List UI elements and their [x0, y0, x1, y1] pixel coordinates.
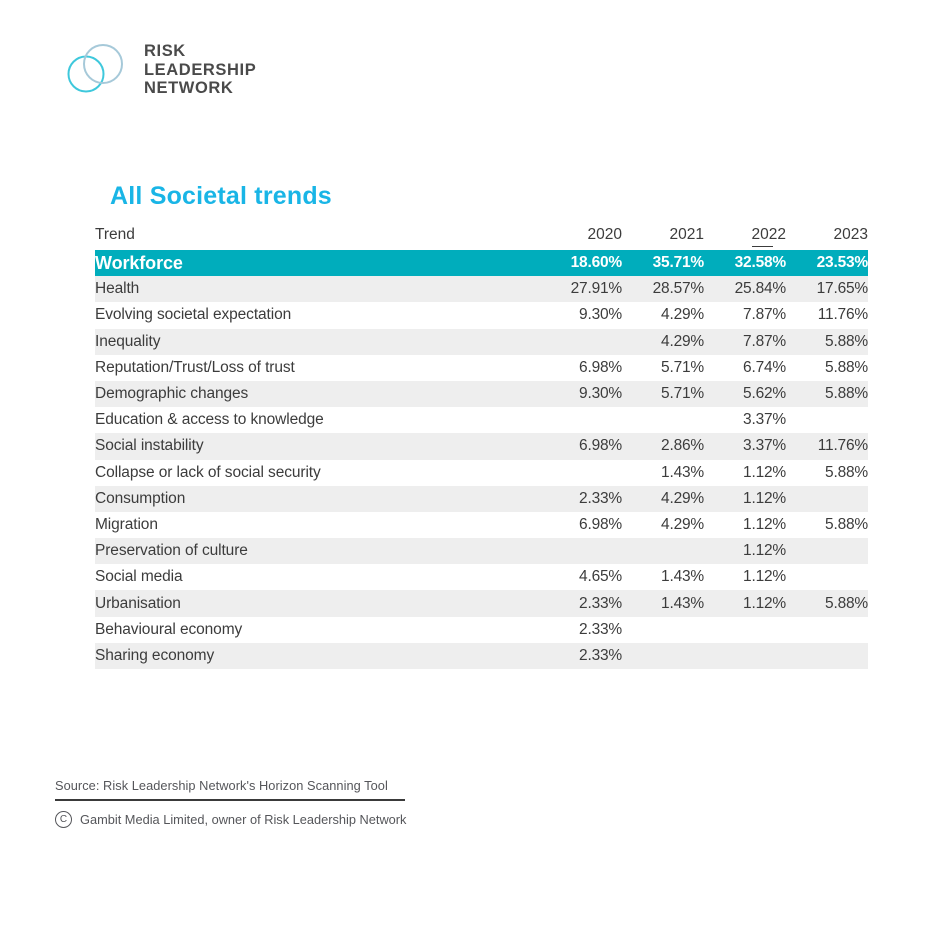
value-cell-2022: 25.84%: [704, 276, 786, 302]
value-cell-2020: 6.98%: [540, 512, 622, 538]
value-cell-2022: 1.12%: [704, 590, 786, 616]
value-cell-2023: [786, 538, 868, 564]
value-cell-2023: 11.76%: [786, 302, 868, 328]
table-row[interactable]: Social instability6.98%2.86%3.37%11.76%: [95, 433, 868, 459]
trend-name-cell: Health: [95, 276, 540, 302]
trend-name-cell: Migration: [95, 512, 540, 538]
value-cell-2023: [786, 407, 868, 433]
value-cell-2020: [540, 329, 622, 355]
value-cell-2021: 1.43%: [622, 460, 704, 486]
value-cell-2020: [540, 407, 622, 433]
value-cell-2023: 17.65%: [786, 276, 868, 302]
column-header-2021-label: 2021: [670, 226, 704, 244]
trend-name-cell: Inequality: [95, 329, 540, 355]
trend-name-cell: Evolving societal expectation: [95, 302, 540, 328]
value-cell-2020: 9.30%: [540, 302, 622, 328]
value-cell-2023: 11.76%: [786, 433, 868, 459]
value-cell-2021: [622, 643, 704, 669]
value-cell-2021: 35.71%: [622, 250, 704, 276]
value-cell-2023: 5.88%: [786, 381, 868, 407]
table-row[interactable]: Migration6.98%4.29%1.12%5.88%: [95, 512, 868, 538]
value-cell-2020: 27.91%: [540, 276, 622, 302]
column-header-2023-label: 2023: [834, 226, 868, 244]
table-row[interactable]: Preservation of culture1.12%: [95, 538, 868, 564]
trends-table-container: Trend 2020 2021 2022 2023 Workforce18.60…: [95, 220, 868, 669]
brand-line-1: RISK: [144, 42, 256, 60]
trend-name-cell: Consumption: [95, 486, 540, 512]
table-row[interactable]: Reputation/Trust/Loss of trust6.98%5.71%…: [95, 355, 868, 381]
value-cell-2021: 4.29%: [622, 512, 704, 538]
trend-name-cell: Social media: [95, 564, 540, 590]
value-cell-2021: 4.29%: [622, 329, 704, 355]
value-cell-2020: 2.33%: [540, 643, 622, 669]
value-cell-2023: [786, 617, 868, 643]
footer-divider: [55, 799, 405, 801]
trend-name-cell: Behavioural economy: [95, 617, 540, 643]
table-row[interactable]: Urbanisation2.33%1.43%1.12%5.88%: [95, 590, 868, 616]
value-cell-2022: 7.87%: [704, 302, 786, 328]
value-cell-2022: 3.37%: [704, 407, 786, 433]
copyright-text: Gambit Media Limited, owner of Risk Lead…: [80, 812, 406, 827]
value-cell-2020: [540, 460, 622, 486]
column-header-2020-label: 2020: [588, 226, 622, 244]
trend-name-cell: Sharing economy: [95, 643, 540, 669]
value-cell-2023: 23.53%: [786, 250, 868, 276]
value-cell-2022: 1.12%: [704, 486, 786, 512]
value-cell-2021: 4.29%: [622, 486, 704, 512]
value-cell-2023: 5.88%: [786, 512, 868, 538]
value-cell-2023: 5.88%: [786, 590, 868, 616]
value-cell-2021: [622, 617, 704, 643]
page-title: All Societal trends: [110, 182, 332, 211]
value-cell-2020: 2.33%: [540, 590, 622, 616]
value-cell-2023: [786, 486, 868, 512]
value-cell-2022: [704, 643, 786, 669]
table-row[interactable]: Inequality4.29%7.87%5.88%: [95, 329, 868, 355]
value-cell-2021: 2.86%: [622, 433, 704, 459]
trend-name-cell: Social instability: [95, 433, 540, 459]
trend-name-cell: Collapse or lack of social security: [95, 460, 540, 486]
table-row[interactable]: Workforce18.60%35.71%32.58%23.53%: [95, 250, 868, 276]
column-header-2020[interactable]: 2020: [540, 220, 622, 250]
value-cell-2020: 2.33%: [540, 486, 622, 512]
trend-name-cell: Demographic changes: [95, 381, 540, 407]
value-cell-2022: 1.12%: [704, 538, 786, 564]
value-cell-2021: 5.71%: [622, 381, 704, 407]
value-cell-2020: [540, 538, 622, 564]
value-cell-2022: 7.87%: [704, 329, 786, 355]
value-cell-2022: 6.74%: [704, 355, 786, 381]
column-header-2021[interactable]: 2021: [622, 220, 704, 250]
column-header-trend[interactable]: Trend: [95, 220, 540, 250]
value-cell-2020: 9.30%: [540, 381, 622, 407]
value-cell-2020: 6.98%: [540, 433, 622, 459]
value-cell-2020: 2.33%: [540, 617, 622, 643]
overlapping-circles-logo-icon: [62, 42, 130, 98]
table-row[interactable]: Demographic changes9.30%5.71%5.62%5.88%: [95, 381, 868, 407]
value-cell-2020: 6.98%: [540, 355, 622, 381]
table-row[interactable]: Social media4.65%1.43%1.12%: [95, 564, 868, 590]
table-row[interactable]: Behavioural economy2.33%: [95, 617, 868, 643]
copyright-row: C Gambit Media Limited, owner of Risk Le…: [55, 811, 875, 828]
value-cell-2021: 5.71%: [622, 355, 704, 381]
column-header-2022-label: 2022: [752, 226, 786, 244]
trend-name-cell: Urbanisation: [95, 590, 540, 616]
table-header: Trend 2020 2021 2022 2023: [95, 220, 868, 250]
table-row[interactable]: Health27.91%28.57%25.84%17.65%: [95, 276, 868, 302]
value-cell-2022: 3.37%: [704, 433, 786, 459]
brand-wordmark: RISK LEADERSHIP NETWORK: [144, 42, 256, 97]
value-cell-2023: 5.88%: [786, 329, 868, 355]
value-cell-2022: 5.62%: [704, 381, 786, 407]
value-cell-2022: 1.12%: [704, 512, 786, 538]
value-cell-2023: [786, 564, 868, 590]
table-row[interactable]: Education & access to knowledge3.37%: [95, 407, 868, 433]
trend-name-cell: Workforce: [95, 250, 540, 276]
trend-name-cell: Reputation/Trust/Loss of trust: [95, 355, 540, 381]
copyright-icon: C: [55, 811, 72, 828]
value-cell-2023: 5.88%: [786, 355, 868, 381]
value-cell-2021: [622, 538, 704, 564]
brand-line-2: LEADERSHIP: [144, 61, 256, 79]
table-header-row: Trend 2020 2021 2022 2023: [95, 220, 868, 250]
value-cell-2022: 32.58%: [704, 250, 786, 276]
value-cell-2023: 5.88%: [786, 460, 868, 486]
source-note: Source: Risk Leadership Network's Horizo…: [55, 778, 875, 793]
table-row[interactable]: Sharing economy2.33%: [95, 643, 868, 669]
value-cell-2021: 4.29%: [622, 302, 704, 328]
trend-name-cell: Education & access to knowledge: [95, 407, 540, 433]
societal-trends-table: Trend 2020 2021 2022 2023 Workforce18.60…: [95, 220, 868, 669]
column-header-2022[interactable]: 2022: [704, 220, 786, 250]
value-cell-2021: 1.43%: [622, 564, 704, 590]
table-row[interactable]: Evolving societal expectation9.30%4.29%7…: [95, 302, 868, 328]
value-cell-2021: 28.57%: [622, 276, 704, 302]
value-cell-2021: 1.43%: [622, 590, 704, 616]
value-cell-2022: [704, 617, 786, 643]
value-cell-2022: 1.12%: [704, 564, 786, 590]
column-header-2023[interactable]: 2023: [786, 220, 868, 250]
value-cell-2021: [622, 407, 704, 433]
brand-line-3: NETWORK: [144, 79, 256, 97]
table-row[interactable]: Collapse or lack of social security1.43%…: [95, 460, 868, 486]
value-cell-2022: 1.12%: [704, 460, 786, 486]
trend-name-cell: Preservation of culture: [95, 538, 540, 564]
brand-logo: RISK LEADERSHIP NETWORK: [62, 42, 256, 98]
table-row[interactable]: Consumption2.33%4.29%1.12%: [95, 486, 868, 512]
value-cell-2020: 18.60%: [540, 250, 622, 276]
value-cell-2023: [786, 643, 868, 669]
value-cell-2020: 4.65%: [540, 564, 622, 590]
footer: Source: Risk Leadership Network's Horizo…: [55, 778, 875, 828]
table-body: Workforce18.60%35.71%32.58%23.53%Health2…: [95, 250, 868, 669]
